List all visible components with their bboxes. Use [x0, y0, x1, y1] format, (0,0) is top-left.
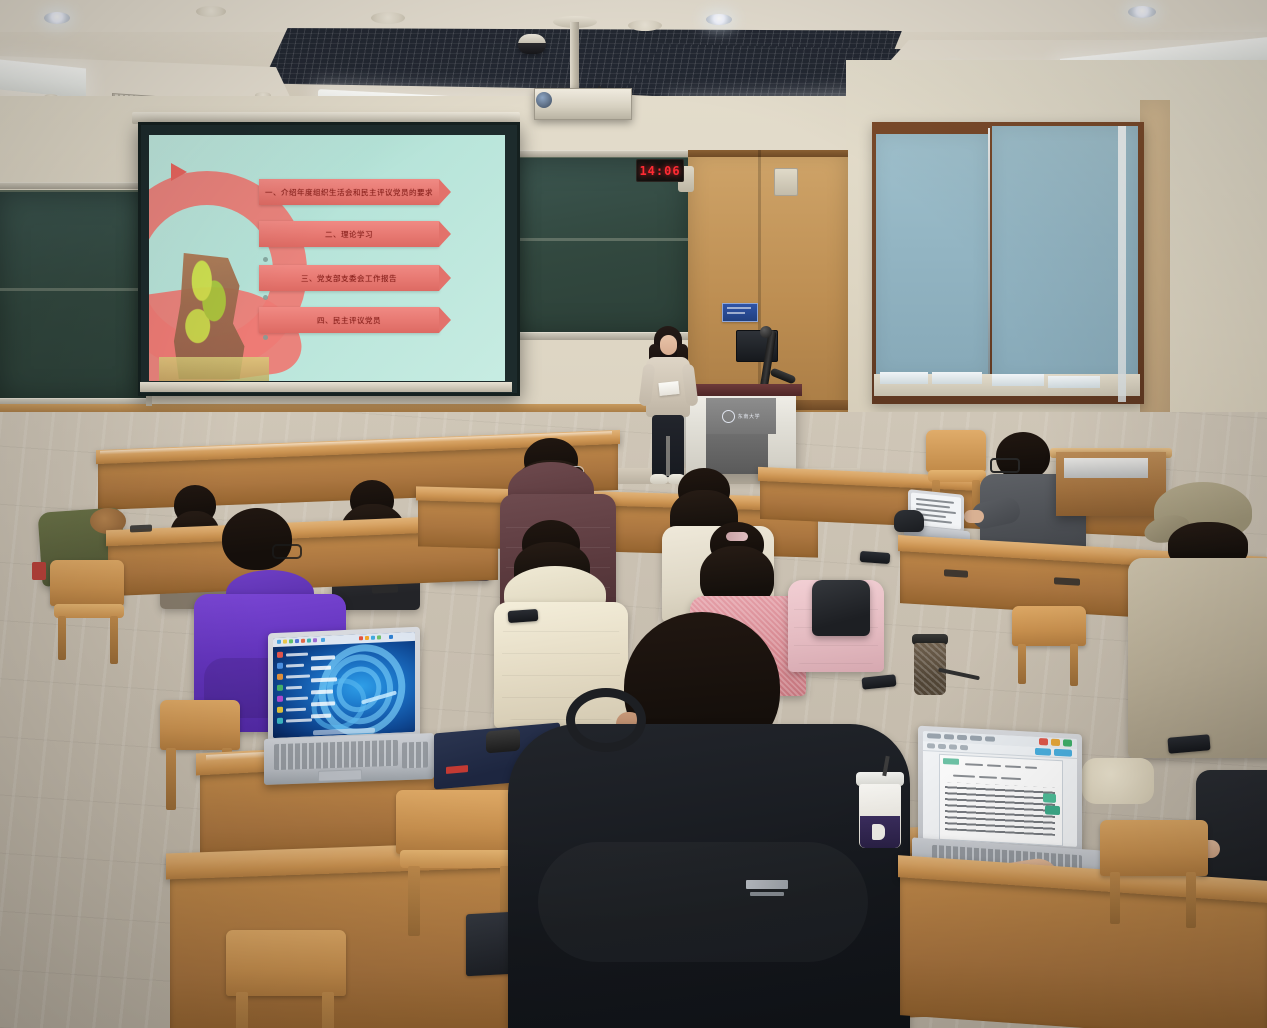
window-light-gap: [1118, 126, 1126, 402]
roller-blind-right[interactable]: [992, 126, 1138, 380]
desktop-icon[interactable]: [277, 674, 283, 680]
phone-on-desk[interactable]: [860, 551, 891, 564]
side-console-display: [1064, 458, 1148, 478]
presenter-shoe: [650, 474, 668, 484]
agenda-item-2-label: 二、理论学习: [325, 229, 373, 240]
projection-screen: 一、介绍年度组织生活会和民主评议党员的要求 二、理论学习 三、党支部支委会工作报…: [149, 135, 505, 381]
projector-pole: [570, 22, 579, 92]
document-text-block: [945, 782, 1055, 836]
microphone-head: [760, 326, 772, 338]
agenda-item-4-label: 四、民主评议党员: [317, 315, 381, 326]
downlight: [706, 14, 732, 25]
led-clock: 14:06: [636, 159, 684, 182]
chalkboard-left: [0, 190, 150, 404]
window-glass: [992, 374, 1044, 386]
head: [222, 508, 292, 570]
presenter-face: [660, 335, 677, 355]
led-clock-time: 14:06: [639, 164, 680, 178]
desk-cable-port: [1054, 577, 1080, 586]
downlight: [196, 6, 226, 17]
dome-camera-icon: [518, 34, 546, 54]
window-glass: [880, 372, 928, 384]
hair-clip-icon: [726, 532, 748, 541]
chair-red-tag: [32, 562, 46, 580]
lectern-branding: 东南大学: [706, 398, 776, 434]
laptop-lid: [268, 627, 420, 746]
agenda-item-4: 四、民主评议党员: [259, 307, 439, 333]
jacket-shoulder-highlight: [538, 842, 868, 962]
laptop-lid: [918, 726, 1082, 855]
backpack-black: [812, 580, 870, 636]
bag-strap: [566, 688, 646, 752]
lectern-institution-text: 东南大学: [738, 413, 760, 420]
phone-on-desk[interactable]: [508, 609, 539, 623]
blind-cord[interactable]: [988, 128, 990, 374]
wall-plaque: [722, 303, 758, 322]
lecture-hall-photo: 一、介绍年度组织生活会和民主评议党员的要求 二、理论学习 三、党支部支委会工作报…: [0, 0, 1267, 1028]
laptop-trackpad[interactable]: [318, 769, 362, 782]
lion-pedestal-graphic: [159, 357, 269, 381]
downlight: [371, 12, 405, 24]
glasses-icon: [990, 458, 1020, 473]
agenda-item-1-label: 一、介绍年度组织生活会和民主评议党员的要求: [265, 187, 433, 198]
slide-bullet-dot: [263, 295, 268, 300]
desk-cable-port: [944, 569, 968, 577]
projection-screen-border: 一、介绍年度组织生活会和民主评议党员的要求 二、理论学习 三、党支部支委会工作报…: [138, 122, 520, 396]
slide-bullet-dot: [263, 335, 268, 340]
window-frame: [872, 122, 1144, 404]
projector-lens: [536, 92, 552, 108]
wall-speaker: [774, 168, 798, 196]
laptop-screen[interactable]: [923, 731, 1077, 847]
bag-on-desk: [894, 510, 924, 532]
window-glass: [932, 372, 982, 384]
desktop-icon[interactable]: [277, 663, 283, 669]
university-emblem-icon: [722, 410, 735, 423]
play-triangle-icon: [171, 163, 187, 181]
downlight: [1128, 6, 1156, 18]
cup-brand-letter: [872, 824, 885, 840]
right-wall-wood-column: [1140, 100, 1170, 430]
screen-weight-bar: [140, 382, 512, 392]
document-editor[interactable]: [923, 731, 1077, 847]
torso: [1128, 558, 1267, 758]
chalkboard-right: [506, 156, 692, 338]
slide-bullet-dot: [263, 257, 268, 262]
downlight: [44, 12, 70, 24]
desk-cable-port: [372, 585, 398, 593]
agenda-item-3: 三、党支部支委会工作报告: [259, 265, 439, 291]
laptop-screen[interactable]: [273, 632, 415, 738]
downlight: [628, 20, 662, 31]
notebook-device[interactable]: [486, 729, 520, 754]
desktop-icon[interactable]: [277, 652, 283, 658]
laptop-keyboard[interactable]: [274, 740, 398, 770]
presenter-notes: [658, 381, 679, 396]
desktop-icon[interactable]: [277, 707, 283, 713]
presenter: [640, 326, 696, 490]
glasses-icon: [272, 544, 302, 559]
desktop-icon[interactable]: [277, 718, 283, 724]
roller-blind-left[interactable]: [876, 134, 988, 376]
agenda-item-3-label: 三、党支部支委会工作报告: [301, 273, 397, 284]
desktop-icon[interactable]: [277, 696, 283, 702]
seat-cushion: [1082, 758, 1154, 804]
desk-cable-port: [130, 525, 152, 533]
lectern-desktop: [680, 384, 802, 396]
window-glass: [1048, 376, 1100, 388]
laptop-numpad[interactable]: [402, 742, 428, 769]
desktop-icon[interactable]: [277, 685, 283, 691]
hand: [964, 510, 984, 523]
agenda-item-1: 一、介绍年度组织生活会和民主评议党员的要求: [259, 179, 439, 205]
agenda-item-2: 二、理论学习: [259, 221, 439, 247]
